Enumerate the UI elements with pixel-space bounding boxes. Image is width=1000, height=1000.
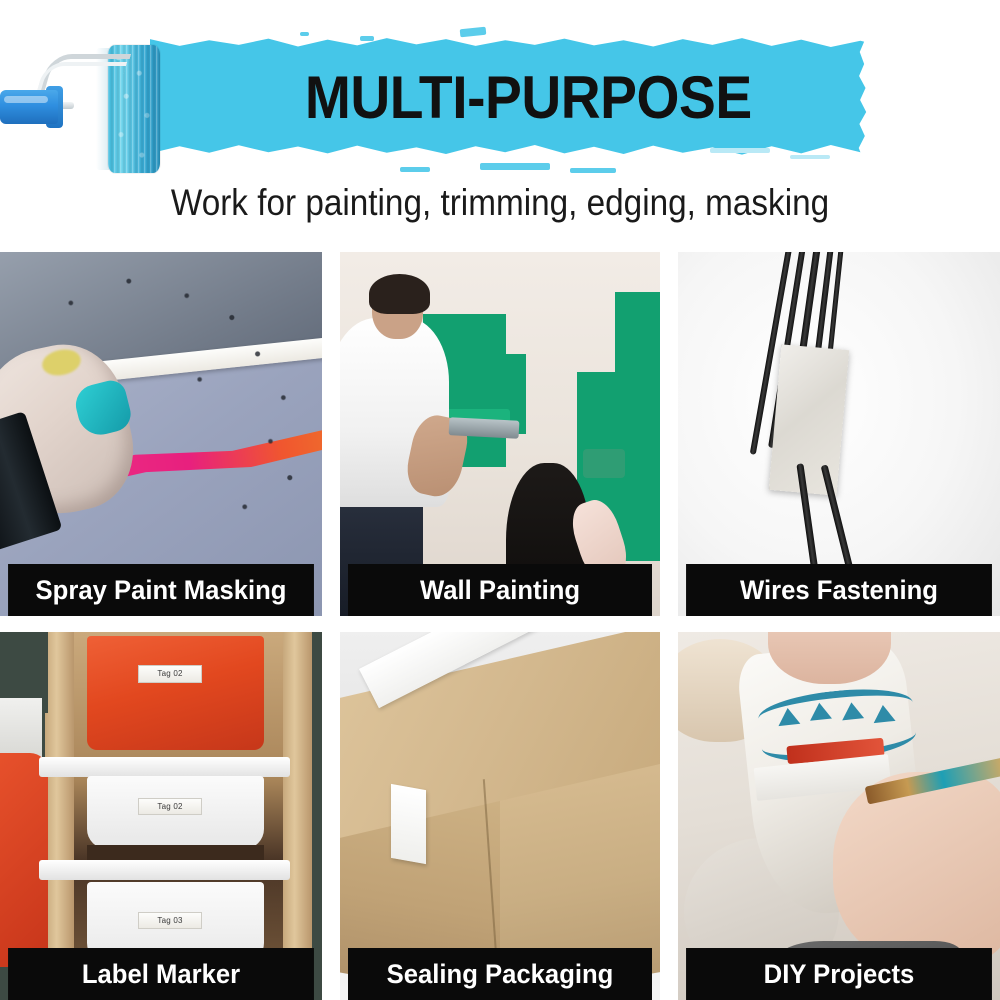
photo-spray-paint-masking — [0, 252, 322, 616]
shelf-rail — [39, 757, 290, 777]
tile-caption: Spray Paint Masking — [8, 564, 314, 616]
roller-handle-highlight — [4, 96, 48, 103]
adjacent-shelf — [0, 698, 42, 757]
header-section: MULTI-PURPOSE Work for painting, trimmin… — [0, 0, 1000, 248]
tile-caption: Wall Painting — [348, 564, 652, 616]
masking-tape-wrap — [768, 344, 848, 495]
man-hair — [369, 274, 430, 314]
tape-label: Tag 02 — [138, 798, 201, 815]
tile-caption: Sealing Packaging — [348, 948, 652, 1000]
tile-caption: Wires Fastening — [686, 564, 992, 616]
page-subtitle: Work for painting, trimming, edging, mas… — [50, 182, 950, 224]
use-case-grid: Spray Paint Masking Wall Pain — [0, 252, 1000, 1000]
shelf-rail — [39, 860, 290, 880]
wood-frame-right — [283, 632, 312, 1000]
wood-frame-left — [45, 632, 74, 1000]
paint-banner: MULTI-PURPOSE — [150, 22, 890, 172]
photo-diy-projects — [678, 632, 1000, 1000]
use-case-tile-sealing-packaging: Sealing Packaging — [340, 632, 660, 1000]
page-title: MULTI-PURPOSE — [180, 22, 861, 172]
photo-label-marker: Tag 02 Tag 02 Tag 03 — [0, 632, 322, 1000]
photo-sealing-packaging — [340, 632, 660, 1000]
use-case-tile-label-marker: Tag 02 Tag 02 Tag 03 Label Marker — [0, 632, 322, 1000]
use-case-tile-diy-projects: DIY Projects — [678, 632, 1000, 1000]
pattern-triangle — [872, 703, 896, 722]
use-case-tile-wires-fastening: Wires Fastening — [678, 252, 1000, 616]
sealing-tape-flap — [391, 783, 426, 863]
tile-caption: Label Marker — [8, 948, 314, 1000]
pattern-triangle — [776, 707, 800, 726]
photo-wires-fastening — [678, 252, 1000, 616]
photo-wall-painting — [340, 252, 660, 616]
use-case-tile-wall-painting: Wall Painting — [340, 252, 660, 616]
orange-storage-bin — [87, 636, 264, 750]
paint-roller-icon — [0, 28, 180, 178]
pattern-triangle — [840, 701, 864, 720]
tape-label: Tag 03 — [138, 912, 201, 929]
use-case-tile-spray-paint-masking: Spray Paint Masking — [0, 252, 322, 616]
hand-with-brush — [833, 772, 1000, 963]
pattern-triangle — [808, 701, 832, 720]
paint-roller-girl — [583, 449, 625, 478]
tile-caption: DIY Projects — [686, 948, 992, 1000]
tape-label: Tag 02 — [138, 665, 201, 682]
product-infographic: MULTI-PURPOSE Work for painting, trimmin… — [0, 0, 1000, 1000]
